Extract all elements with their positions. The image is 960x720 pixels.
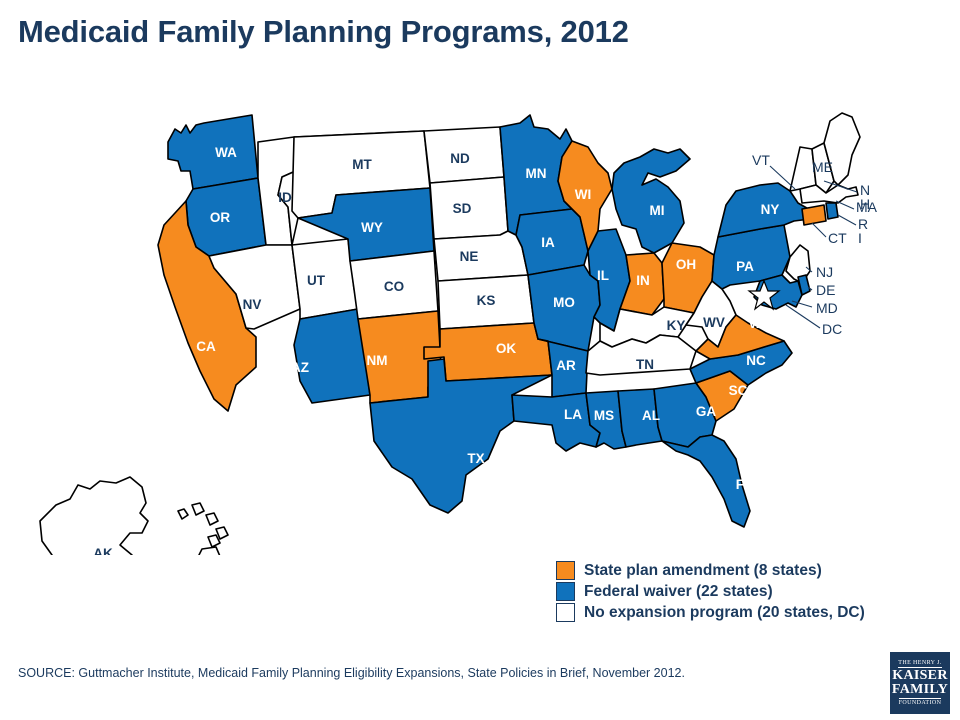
label-ME: ME — [812, 159, 833, 175]
label-NJ: NJ — [816, 264, 833, 280]
us-choropleth-map: WA OR CA ID NV UT AZ MT WY CO NM ND SD N… — [0, 85, 960, 555]
label-WV: WV — [703, 315, 725, 330]
map-legend: State plan amendment (8 states) Federal … — [556, 560, 865, 623]
source-note: SOURCE: Guttmacher Institute, Medicaid F… — [18, 665, 858, 682]
label-NC: NC — [746, 353, 766, 368]
label-SC: SC — [729, 383, 748, 398]
label-ND: ND — [450, 151, 470, 166]
legend-row-state-plan-amendment[interactable]: State plan amendment (8 states) — [556, 560, 865, 581]
label-DC: DC — [822, 321, 842, 337]
label-VT: VT — [752, 152, 770, 168]
label-AZ: AZ — [291, 360, 309, 375]
label-NM: NM — [367, 353, 388, 368]
logo-line-foundation: FOUNDATION — [899, 698, 942, 706]
label-CO: CO — [384, 279, 404, 294]
label-KS: KS — [477, 293, 496, 308]
label-MO: MO — [553, 295, 575, 310]
label-IL: IL — [597, 268, 609, 283]
legend-row-federal-waiver[interactable]: Federal waiver (22 states) — [556, 581, 865, 602]
label-GA: GA — [696, 404, 717, 419]
label-PA: PA — [736, 259, 754, 274]
state-CT[interactable] — [802, 205, 826, 225]
label-MT: MT — [352, 157, 372, 172]
legend-row-no-expansion-program[interactable]: No expansion program (20 states, DC) — [556, 602, 865, 623]
label-ID: ID — [278, 190, 292, 205]
kaiser-family-foundation-logo: THE HENRY J. KAISER FAMILY FOUNDATION — [890, 652, 950, 714]
label-AR: AR — [556, 358, 576, 373]
legend-swatch-white — [556, 603, 575, 622]
legend-swatch-blue — [556, 582, 575, 601]
legend-label-no-expansion-program: No expansion program (20 states, DC) — [584, 604, 865, 622]
label-TN: TN — [636, 357, 654, 372]
logo-line-family: FAMILY — [892, 683, 948, 697]
leader-dc — [786, 305, 820, 328]
logo-line-kaiser: KAISER — [892, 669, 947, 683]
label-IN: IN — [636, 273, 650, 288]
label-CT: CT — [828, 230, 847, 246]
label-OK: OK — [496, 341, 517, 356]
leader-ct — [812, 223, 826, 237]
label-TX: TX — [467, 451, 484, 466]
label-VA: VA — [748, 316, 766, 331]
label-OH: OH — [676, 257, 696, 272]
label-MD: MD — [816, 300, 838, 316]
label-RI-bottom: I — [858, 230, 862, 246]
label-MS: MS — [594, 408, 614, 423]
state-UT[interactable] — [292, 239, 358, 319]
label-MA: MA — [856, 199, 878, 215]
label-LA: LA — [564, 407, 582, 422]
state-WA[interactable] — [168, 115, 258, 189]
state-RI[interactable] — [826, 203, 838, 219]
label-KY: KY — [667, 318, 686, 333]
legend-label-state-plan-amendment: State plan amendment (8 states) — [584, 562, 822, 580]
label-AL: AL — [642, 408, 660, 423]
legend-swatch-orange — [556, 561, 575, 580]
label-WI: WI — [575, 187, 592, 202]
label-MN: MN — [526, 166, 547, 181]
legend-label-federal-waiver: Federal waiver (22 states) — [584, 583, 773, 601]
label-DE: DE — [816, 282, 835, 298]
state-MI[interactable] — [612, 149, 690, 253]
label-CA: CA — [196, 339, 216, 354]
label-IA: IA — [541, 235, 555, 250]
leader-ri — [838, 215, 856, 225]
label-OR: OR — [210, 210, 231, 225]
label-UT: UT — [307, 273, 326, 288]
label-NE: NE — [460, 249, 479, 264]
state-HI[interactable] — [178, 503, 228, 555]
label-NV: NV — [243, 297, 262, 312]
leader-ma — [836, 201, 854, 209]
label-AK: AK — [93, 546, 113, 555]
label-SD: SD — [453, 201, 472, 216]
label-MI: MI — [650, 203, 665, 218]
state-NE[interactable] — [434, 231, 528, 281]
logo-line-the-henry-j: THE HENRY J. — [898, 660, 941, 668]
label-NY: NY — [761, 202, 780, 217]
page-title: Medicaid Family Planning Programs, 2012 — [18, 14, 629, 50]
label-WY: WY — [361, 220, 383, 235]
state-AK[interactable] — [40, 477, 148, 555]
label-FL: FL — [736, 477, 753, 492]
label-WA: WA — [215, 145, 237, 160]
